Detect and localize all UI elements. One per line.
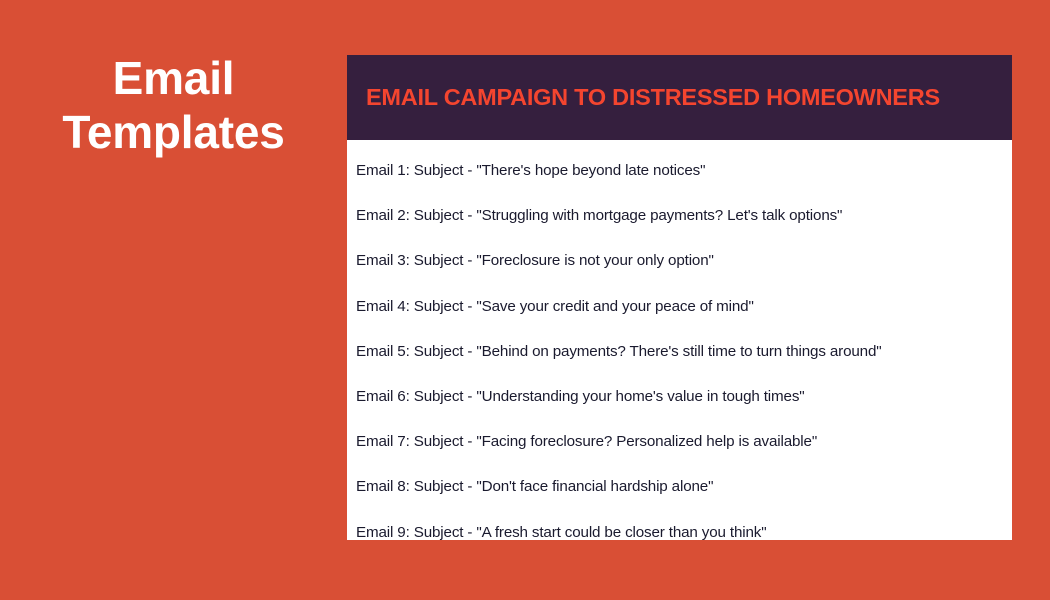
list-item: Email 9: Subject - "A fresh start could … xyxy=(356,523,998,540)
list-item: Email 6: Subject - "Understanding your h… xyxy=(356,387,998,408)
list-item: Email 3: Subject - "Foreclosure is not y… xyxy=(356,251,998,272)
slide-canvas: Email Templates EMAIL CAMPAIGN TO DISTRE… xyxy=(0,0,1050,600)
list-item: Email 2: Subject - "Struggling with mort… xyxy=(356,206,998,227)
card-header-title: EMAIL CAMPAIGN TO DISTRESSED HOMEOWNERS xyxy=(366,85,940,111)
list-item: Email 8: Subject - "Don't face financial… xyxy=(356,477,998,498)
list-item: Email 4: Subject - "Save your credit and… xyxy=(356,297,998,318)
list-item: Email 5: Subject - "Behind on payments? … xyxy=(356,342,998,363)
email-campaign-card: EMAIL CAMPAIGN TO DISTRESSED HOMEOWNERS … xyxy=(347,55,1012,540)
left-title-panel: Email Templates xyxy=(0,0,347,600)
email-subject-list: Email 1: Subject - "There's hope beyond … xyxy=(347,140,1012,540)
page-title: Email Templates xyxy=(62,52,284,160)
card-header: EMAIL CAMPAIGN TO DISTRESSED HOMEOWNERS xyxy=(347,55,1012,140)
list-item: Email 7: Subject - "Facing foreclosure? … xyxy=(356,432,998,453)
list-item: Email 1: Subject - "There's hope beyond … xyxy=(356,161,998,182)
